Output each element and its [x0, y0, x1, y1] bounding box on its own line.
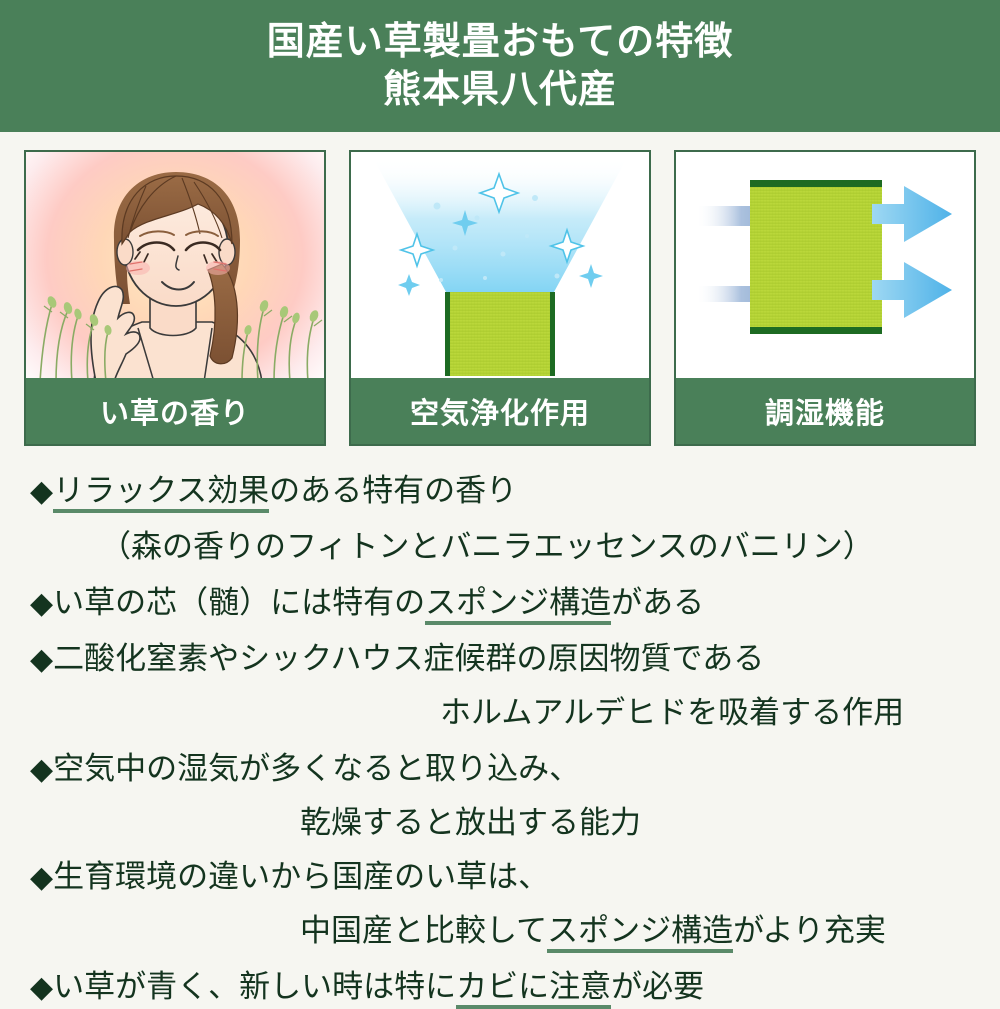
humidity-control-illustration [676, 152, 974, 382]
moisture-flow-diagram [676, 152, 974, 382]
highlight-mold-caution: カビに注意 [456, 969, 611, 1009]
feature-line-7-text: 乾燥すると放出する能力 [300, 805, 641, 840]
bullet-diamond-icon: ◆ [30, 643, 53, 676]
igusa-fragrance-illustration [26, 152, 324, 382]
feature-line-10-pre: い草が青く、新しい時は特に [53, 969, 456, 1004]
bullet-diamond-icon: ◆ [30, 475, 53, 508]
bullet-diamond-icon: ◆ [30, 861, 53, 894]
air-purification-illustration [351, 152, 649, 382]
feature-line-5-text: ホルムアルデヒドを吸着する作用 [440, 695, 904, 730]
clean-air-cone [351, 152, 649, 382]
card-label-humidity-control: 調湿機能 [676, 378, 974, 444]
header-title-line1: 国産い草製畳おもての特徴 [267, 18, 733, 66]
bullet-diamond-icon: ◆ [30, 587, 53, 620]
bullet-diamond-icon: ◆ [30, 753, 53, 786]
feature-line-6: ◆空気中の湿気が多くなると取り込み、 [30, 752, 580, 787]
feature-line-1-text: のある特有の香り [269, 473, 517, 508]
infographic-page: 国産い草製畳おもての特徴 熊本県八代産 [0, 0, 1000, 1000]
highlight-relax-effect: リラックス効果 [53, 473, 269, 513]
feature-line-5: ホルムアルデヒドを吸着する作用 [440, 696, 904, 730]
feature-line-10-post: が必要 [611, 969, 704, 1004]
header-title-line2: 熊本県八代産 [383, 66, 617, 114]
feature-line-3: ◆い草の芯（髄）には特有のスポンジ構造がある [30, 586, 704, 621]
highlight-sponge-structure-fuller: スポンジ構造 [547, 913, 733, 953]
feature-card-row: い草の香り [0, 150, 1000, 450]
bullet-diamond-icon: ◆ [30, 971, 53, 1004]
feature-line-9-post: がより充実 [733, 913, 886, 948]
arrow-out-top [872, 186, 952, 242]
feature-line-7: 乾燥すると放出する能力 [300, 806, 641, 840]
feature-line-4-text: 二酸化窒素やシックハウス症候群の原因物質である [53, 641, 764, 676]
feature-line-3-pre: い草の芯（髄）には特有の [53, 585, 425, 620]
header-banner: 国産い草製畳おもての特徴 熊本県八代産 [0, 0, 1000, 132]
feature-card-fragrance[interactable]: い草の香り [24, 150, 326, 446]
feature-line-3-post: がある [611, 585, 704, 620]
feature-line-9: 中国産と比較してスポンジ構造がより充実 [300, 914, 886, 948]
feature-line-1: ◆リラックス効果のある特有の香り [30, 474, 517, 509]
feature-line-9-pre: 中国産と比較して [300, 913, 547, 948]
feature-line-2: （森の香りのフィトンとバニラエッセンスのバニリン） [100, 530, 874, 564]
feature-line-4: ◆二酸化窒素やシックハウス症候群の原因物質である [30, 642, 764, 677]
igusa-grass-illustration [26, 252, 324, 382]
feature-line-6-text: 空気中の湿気が多くなると取り込み、 [53, 751, 580, 786]
card-label-fragrance: い草の香り [26, 378, 324, 444]
feature-card-humidity-control[interactable]: 調湿機能 [674, 150, 976, 446]
arrow-out-bottom [872, 262, 952, 318]
feature-line-2-text: （森の香りのフィトンとバニラエッセンスのバニリン） [100, 529, 874, 564]
feature-line-8-text: 生育環境の違いから国産のい草は、 [53, 859, 549, 894]
feature-card-air-purification[interactable]: 空気浄化作用 [349, 150, 651, 446]
highlight-sponge-structure: スポンジ構造 [425, 585, 611, 625]
feature-line-8: ◆生育環境の違いから国産のい草は、 [30, 860, 549, 895]
card-label-air-purification: 空気浄化作用 [351, 378, 649, 444]
